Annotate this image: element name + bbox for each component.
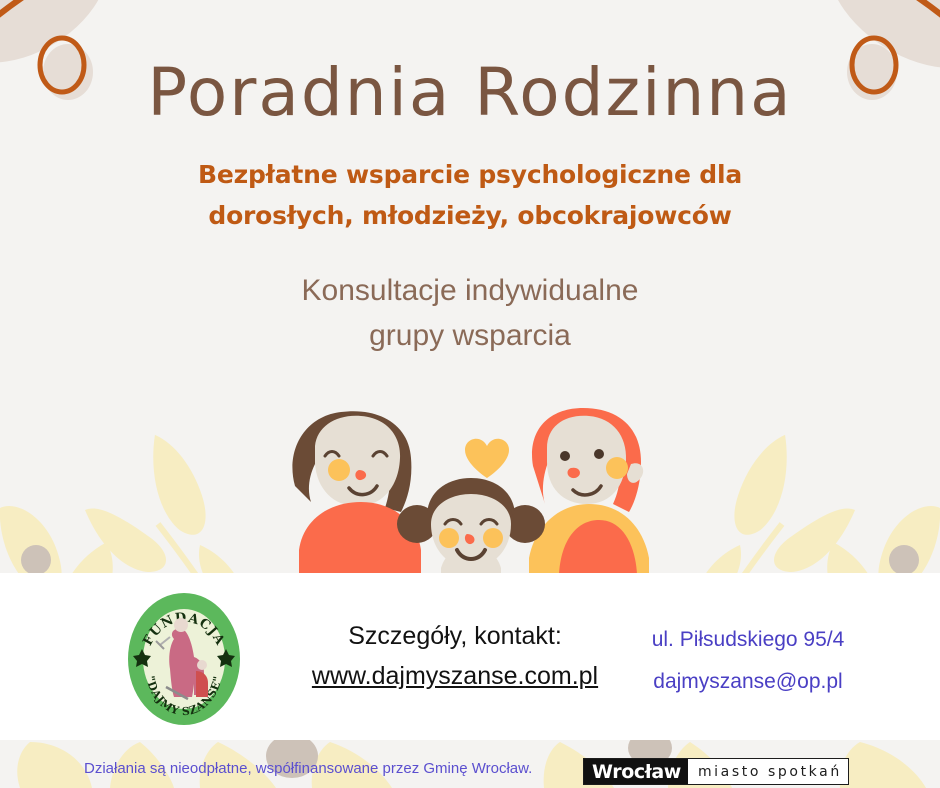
contact-details: Szczegóły, kontakt: www.dajmyszanse.com.… [290, 617, 620, 696]
mother-figure [292, 411, 421, 574]
subtitle-line-1: Bezpłatne wsparcie psychologiczne dla [0, 155, 940, 196]
subtitle-line-2: dorosłych, młodzieży, obcokrajowców [0, 196, 940, 237]
wroclaw-city-logo: Wrocław miasto spotkań [583, 758, 849, 785]
heart-icon [465, 439, 509, 478]
wroclaw-name: Wrocław [584, 759, 688, 784]
foundation-logo: FUNDACJA "DAJMY SZANSE" [126, 591, 242, 727]
poster-canvas: Poradnia Rodzinna Bezpłatne wsparcie psy… [0, 0, 940, 788]
contact-address-block: ul. Piłsudskiego 95/4 dajmyszanse@op.pl [628, 619, 868, 703]
subtitle: Bezpłatne wsparcie psychologiczne dla do… [0, 127, 940, 236]
email-link[interactable]: dajmyszanse@op.pl [628, 661, 868, 703]
service-line-1: Konsultacje indywidualne [0, 269, 940, 313]
website-link[interactable]: www.dajmyszanse.com.pl [290, 657, 620, 697]
family-illustration [281, 408, 661, 574]
address-text: ul. Piłsudskiego 95/4 [628, 619, 868, 661]
page-title: Poradnia Rodzinna [0, 0, 940, 127]
funding-note: Działania są nieodpłatne, współfinansowa… [84, 760, 532, 777]
contact-label: Szczegóły, kontakt: [290, 617, 620, 657]
wroclaw-tagline: miasto spotkań [688, 759, 842, 784]
service-line-2: grupy wsparcia [0, 314, 940, 358]
father-figure [529, 408, 649, 574]
services-list: Konsultacje indywidualne grupy wsparcia [0, 236, 940, 358]
headline-block: Poradnia Rodzinna Bezpłatne wsparcie psy… [0, 0, 940, 358]
